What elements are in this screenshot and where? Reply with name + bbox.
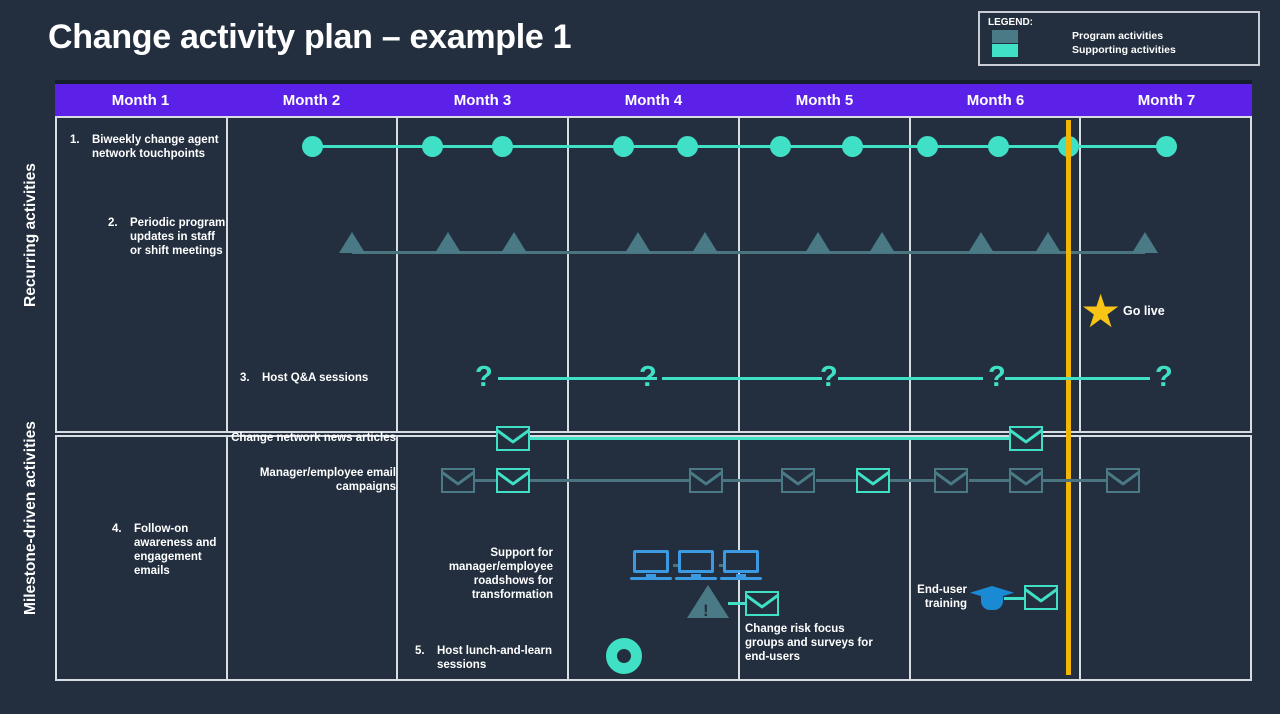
qa-session-marker: ? [820,363,838,392]
row-group-label-milestone: Milestone-driven activities [16,356,46,681]
email-campaign-envelope-icon [496,468,530,493]
program-update-marker [435,232,461,253]
touchpoint-marker [613,136,634,157]
activity-2: 2. Periodic program updates in staff or … [108,216,228,258]
legend-item-supporting: Supporting activities [992,43,1250,57]
email-campaign-envelope-icon [441,468,475,493]
qa-session-marker: ? [475,363,493,392]
qa-session-marker: ? [1155,363,1173,392]
activity-4: 4. Follow-on awareness and engagement em… [112,522,230,578]
program-update-marker [1035,232,1061,253]
row-group-label-recurring: Recurring activities [16,118,46,353]
end-user-training-label: End-user training [905,583,967,611]
laptop-icon [630,550,672,580]
activity-3-text: Host Q&A sessions [262,371,400,385]
connector-line-qa-3 [838,377,983,380]
email-campaign-envelope-icon [1009,468,1043,493]
risk-focus-envelope-icon [745,591,779,616]
touchpoint-marker [842,136,863,157]
warning-exclamation-icon: ! [703,602,709,619]
activity-5: 5. Host lunch-and-learn sessions [415,644,555,672]
connector-line-email-campaigns-6 [969,479,1011,482]
legend: LEGEND: Program activities Supporting ac… [978,11,1260,66]
activity-5-number: 5. [415,644,437,672]
risk-focus-label: Change risk focus groups and surveys for… [745,622,885,664]
program-update-marker [968,232,994,253]
activity-4-number: 4. [112,522,134,578]
qa-session-marker: ? [639,363,657,392]
end-user-training-envelope-icon [1024,585,1058,610]
news-article-envelope-icon [1009,426,1043,451]
email-campaign-envelope-icon [689,468,723,493]
connector-line-qa-1 [498,377,657,380]
touchpoint-marker [1156,136,1177,157]
legend-item-program: Program activities [992,29,1250,43]
activity-4-text: Follow-on awareness and engagement email… [134,522,230,578]
program-update-marker [869,232,895,253]
connector-line-email-campaigns-5 [890,479,936,482]
program-activities-swatch-icon [992,30,1018,43]
activity-5-text: Host lunch-and-learn sessions [437,644,555,672]
touchpoint-marker [677,136,698,157]
activity-1: 1. Biweekly change agent network touchpo… [70,133,228,161]
legend-label-program: Program activities [1072,30,1163,42]
program-update-marker [692,232,718,253]
connector-line-email-campaigns-3 [723,479,782,482]
laptop-icon [720,550,762,580]
connector-line-email-campaigns-7 [1043,479,1106,482]
roadshows-label: Support for manager/employee roadshows f… [410,546,553,602]
activity-2-text: Periodic program updates in staff or shi… [130,216,228,258]
legend-heading: LEGEND: [988,17,1250,29]
news-articles-label: Change network news articles [226,431,396,445]
email-campaign-envelope-icon [856,468,890,493]
program-update-marker [501,232,527,253]
plot-layer: ★ Go live ? ? ? ? ? ! [55,80,1252,681]
lunch-and-learn-donut-icon [606,638,642,674]
touchpoint-marker [422,136,443,157]
program-update-marker [1132,232,1158,253]
go-live-label: Go live [1123,304,1165,318]
page-title: Change activity plan – example 1 [48,18,571,57]
email-campaigns-label: Manager/employee email campaigns [234,466,396,494]
email-campaign-envelope-icon [1106,468,1140,493]
laptop-icon [675,550,717,580]
legend-label-supporting: Supporting activities [1072,44,1176,56]
activity-1-number: 1. [70,133,92,161]
touchpoint-marker [302,136,323,157]
supporting-activities-swatch-icon [992,44,1018,57]
activity-1-text: Biweekly change agent network touchpoint… [92,133,228,161]
qa-session-marker: ? [988,363,1006,392]
go-live-vertical-line [1066,120,1071,675]
connector-line-email-campaigns-4 [816,479,858,482]
touchpoint-marker [988,136,1009,157]
news-article-envelope-icon [496,426,530,451]
email-campaign-envelope-icon [781,468,815,493]
connector-line-email-campaigns-2 [530,479,689,482]
touchpoint-marker [492,136,513,157]
program-update-marker [805,232,831,253]
touchpoint-marker [770,136,791,157]
activity-2-number: 2. [108,216,130,258]
connector-line-qa-2 [662,377,822,380]
activity-3: 3. Host Q&A sessions [240,371,400,385]
program-update-marker [339,232,365,253]
connector-line-news-articles [530,437,1027,440]
graduation-cap-icon [970,584,1014,612]
touchpoint-marker [917,136,938,157]
connector-line-program-updates [352,251,1145,254]
program-update-marker [625,232,651,253]
email-campaign-envelope-icon [934,468,968,493]
activity-3-number: 3. [240,371,262,385]
go-live-star-icon: ★ [1080,288,1121,334]
connector-line-qa-4 [1005,377,1150,380]
